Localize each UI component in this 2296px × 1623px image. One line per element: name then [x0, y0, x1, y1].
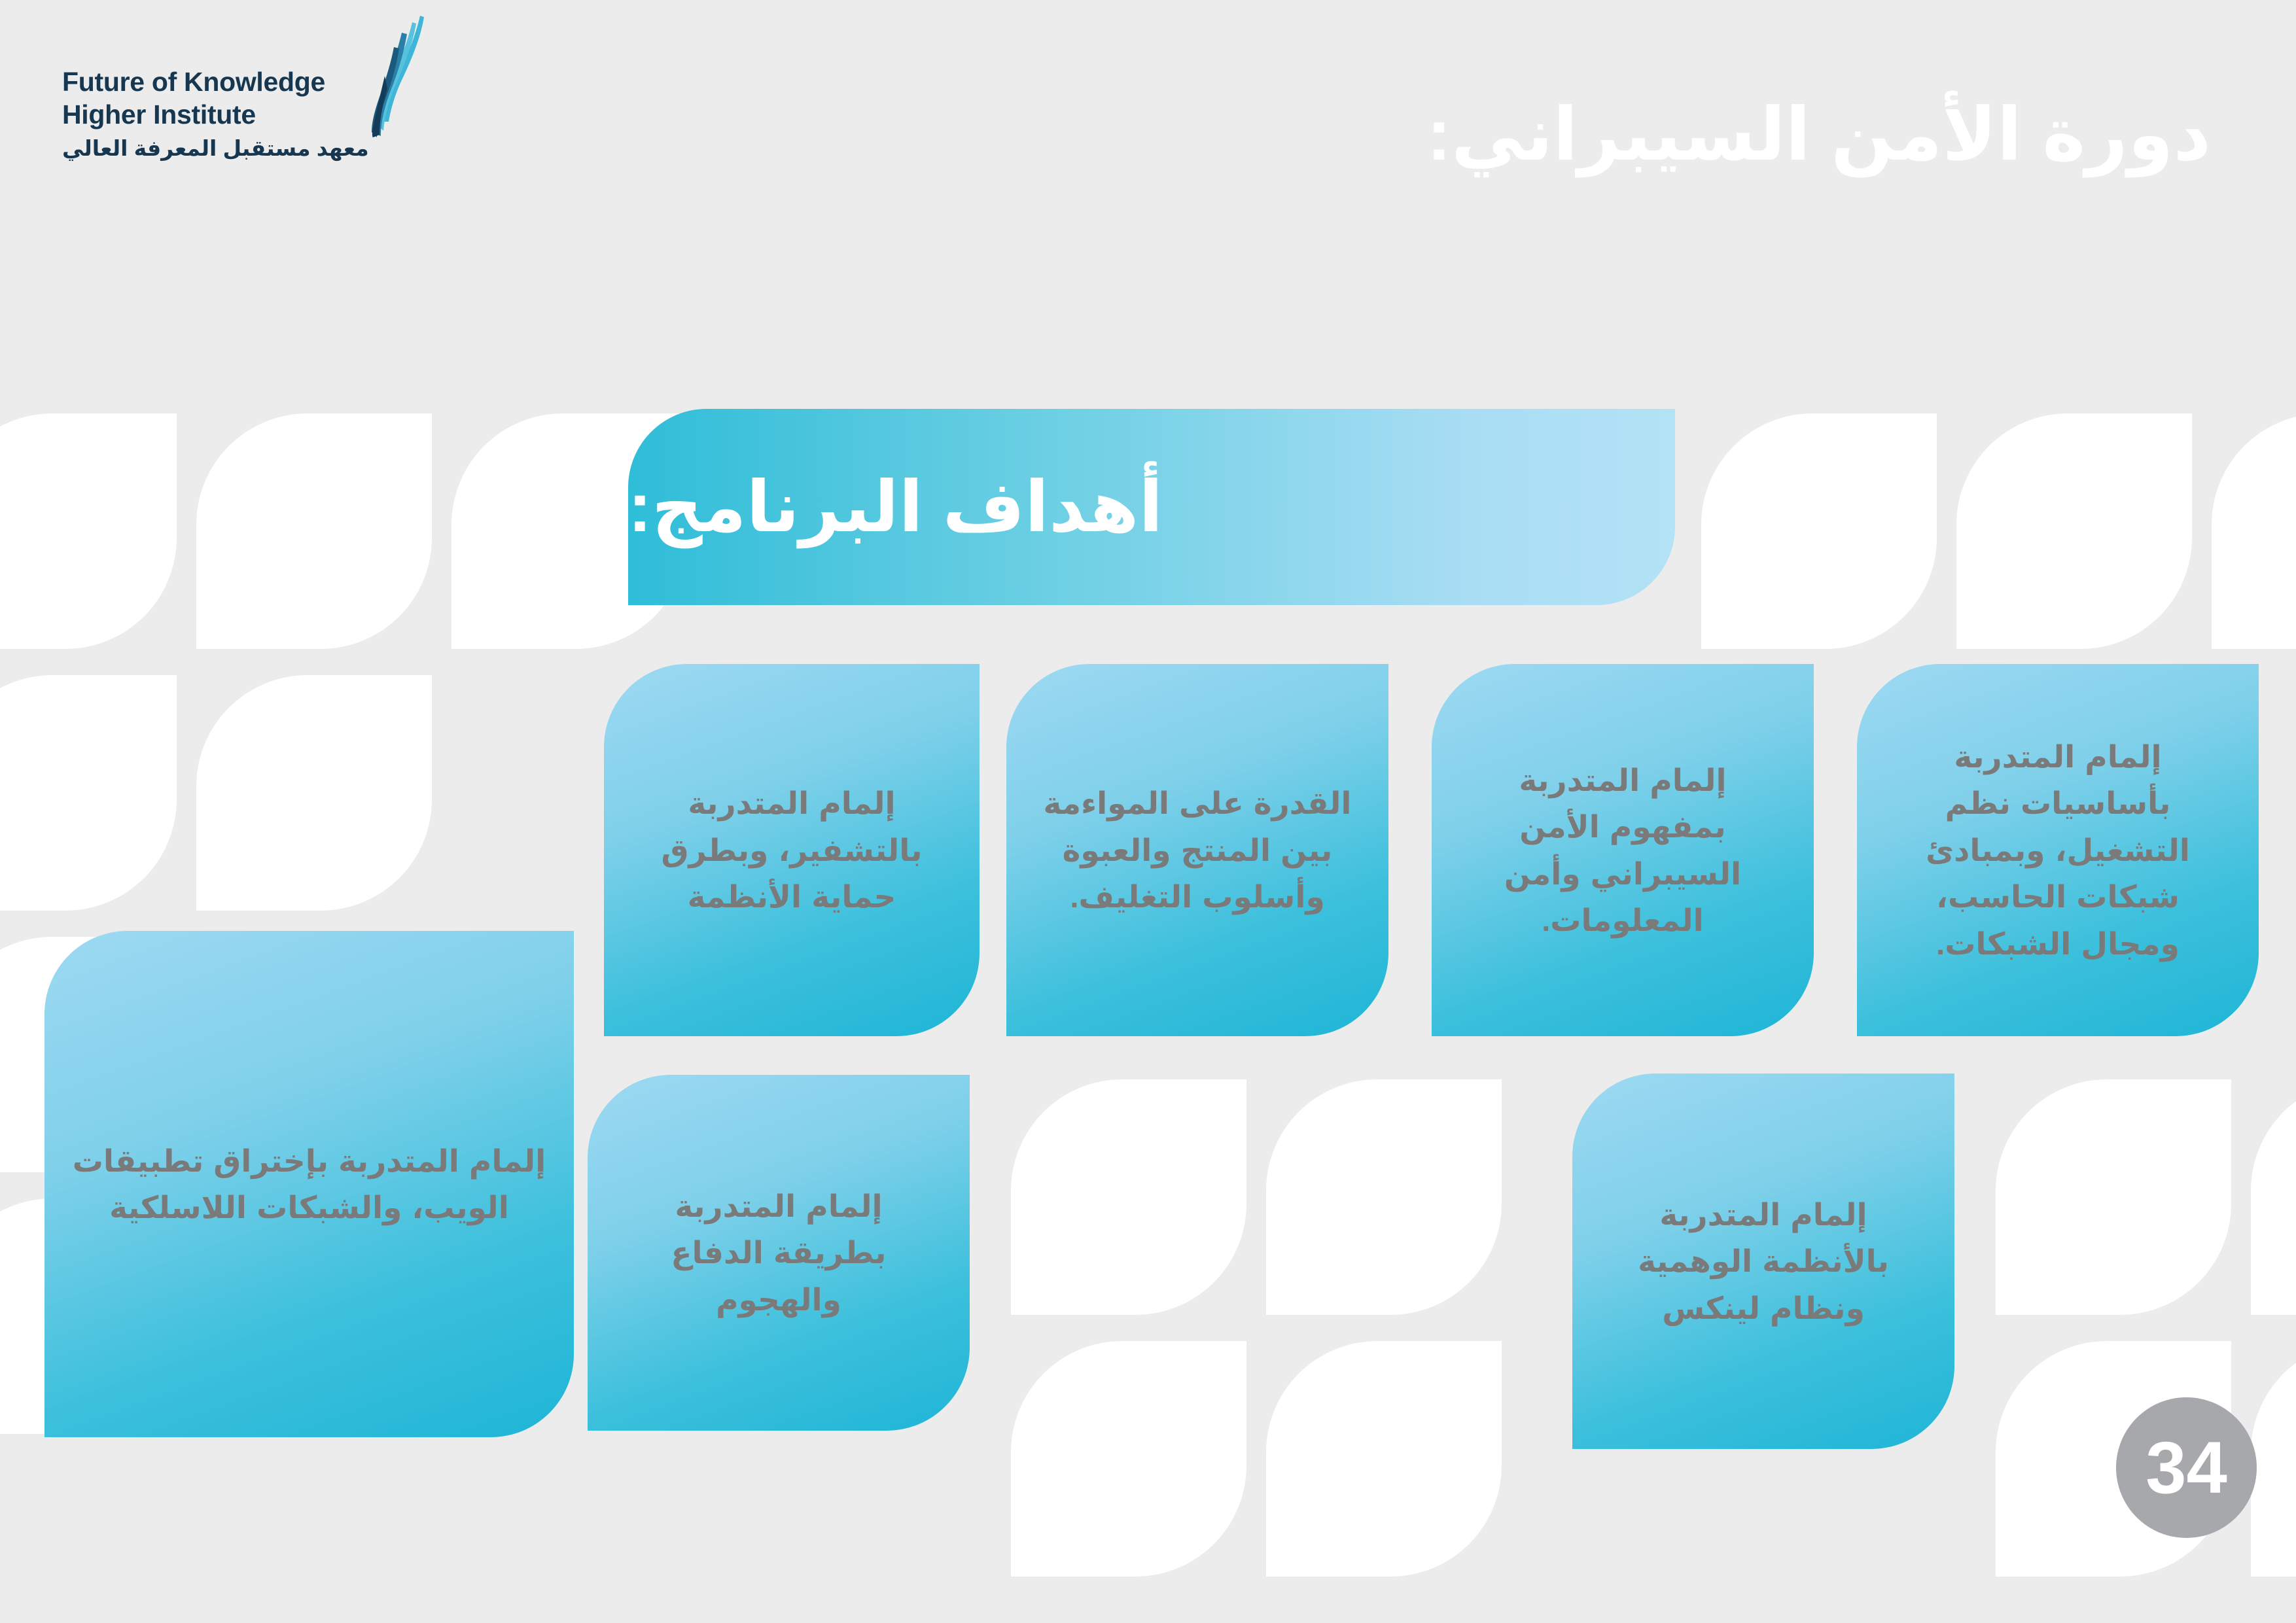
objective-card-encryption-system-protection[interactable]: إلمام المتدربة بالتشفير، وبطرق حماية الأ… [609, 669, 975, 1032]
slide-canvas: Future of Knowledge Higher Institute معه… [0, 0, 2296, 1623]
background-leaf [1011, 1079, 1246, 1315]
feather-quill-icon [369, 13, 441, 137]
objective-card-text: القدرة على المواءمة بين المنتج والعبوة و… [1033, 780, 1362, 920]
page-number-badge: 34 [2116, 1397, 2257, 1538]
objective-card-text: إلمام المتدربة بطريقة الدفاع والهجوم [614, 1183, 943, 1323]
objective-card-defense-and-attack[interactable]: إلمام المتدربة بطريقة الدفاع والهجوم [592, 1079, 965, 1426]
background-leaf [1266, 1341, 1502, 1577]
objective-card-virtual-systems-linux[interactable]: إلمام المتدربة بالأنظمة الوهمية ونظام لي… [1577, 1078, 1950, 1444]
background-leaf [1956, 413, 2192, 649]
section-banner-label: أهداف البرنامج: [628, 472, 1163, 542]
background-leaf [2212, 413, 2296, 649]
objective-card-text: إلمام المتدربة بالتشفير، وبطرق حماية الأ… [631, 780, 953, 920]
page-title: دورة الأمن السيبراني: [1427, 98, 2211, 171]
objective-card-web-wireless-penetration[interactable]: إلمام المتدربة بإختراق تطبيقات الويب، وا… [49, 935, 569, 1433]
objective-card-operating-systems-networks[interactable]: إلمام المتدربة بأساسيات نظم التشغيل، وبم… [1862, 669, 2254, 1032]
objective-card-product-packaging-alignment[interactable]: القدرة على المواءمة بين المنتج والعبوة و… [1011, 669, 1384, 1032]
background-leaf [1011, 1341, 1246, 1577]
background-leaf [196, 413, 432, 649]
background-leaf [0, 413, 177, 649]
objective-card-text: إلمام المتدربة بأساسيات نظم التشغيل، وبم… [1884, 733, 2232, 967]
objective-card-text: إلمام المتدربة بإختراق تطبيقات الويب، وا… [71, 1138, 547, 1231]
section-banner: أهداف البرنامج: [628, 409, 1675, 605]
background-leaf [2251, 1341, 2296, 1577]
background-leaf [2251, 1079, 2296, 1315]
background-leaf [196, 675, 432, 911]
institute-logo: Future of Knowledge Higher Institute معه… [62, 13, 446, 161]
background-leaf [1266, 1079, 1502, 1315]
page-number: 34 [2146, 1431, 2227, 1505]
logo-arabic-name: معهد مستقبل المعرفة العالي [62, 135, 369, 161]
logo-line-2: Higher Institute [62, 98, 369, 131]
logo-line-1: Future of Knowledge [62, 65, 369, 98]
background-leaf [1996, 1079, 2231, 1315]
background-leaf [0, 675, 177, 911]
objective-card-cybersecurity-concept[interactable]: إلمام المتدربة بمفهوم الأمن السيبراني وأ… [1436, 669, 1809, 1032]
background-leaf [1701, 413, 1937, 649]
objective-card-text: إلمام المتدربة بمفهوم الأمن السيبراني وأ… [1458, 757, 1787, 944]
objective-card-text: إلمام المتدربة بالأنظمة الوهمية ونظام لي… [1599, 1191, 1928, 1331]
